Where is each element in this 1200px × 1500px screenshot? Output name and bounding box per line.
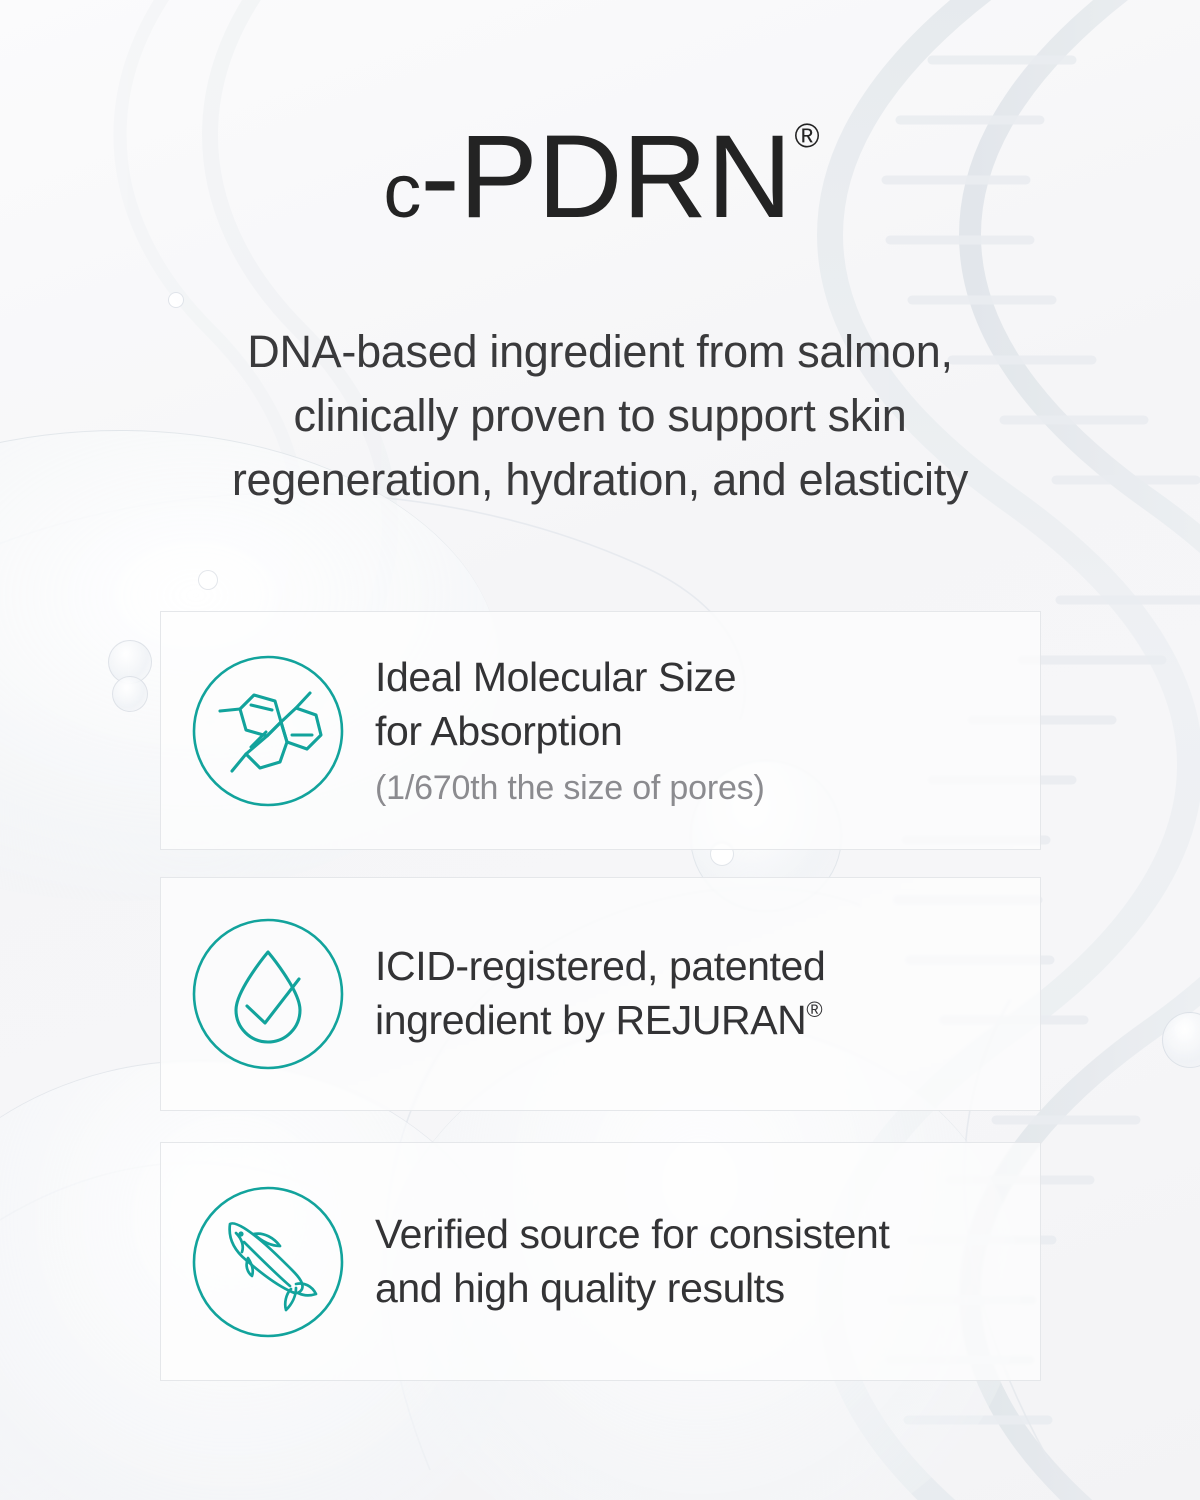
card-text-wrapper: ICID-registered, patented ingredient by …: [375, 940, 1040, 1047]
card-text-wrapper: Verified source for consistent and high …: [375, 1208, 1040, 1315]
fish-icon: [192, 1186, 344, 1338]
registered-trademark-icon: ®: [795, 117, 820, 155]
feature-card-verified-source: Verified source for consistent and high …: [160, 1142, 1041, 1381]
water-drop-check-icon: [192, 918, 344, 1070]
brand-lead-letter: c: [383, 149, 420, 234]
card-heading-text: ICID-registered, patented ingredient by …: [375, 943, 825, 1043]
bubble: [168, 292, 184, 308]
feature-card-icid-registered: ICID-registered, patented ingredient by …: [160, 877, 1041, 1111]
card-text-wrapper: Ideal Molecular Size for Absorption (1/6…: [375, 651, 1040, 810]
product-infographic-page: c-PDRN® DNA-based ingredient from salmon…: [0, 0, 1200, 1500]
registered-trademark-icon: ®: [806, 997, 822, 1022]
bubble: [1162, 1012, 1200, 1068]
bubble: [108, 640, 152, 684]
subtitle: DNA-based ingredient from salmon, clinic…: [0, 320, 1200, 512]
feature-card-list: Ideal Molecular Size for Absorption (1/6…: [160, 611, 1041, 1381]
card-icon-wrapper: [161, 1186, 375, 1338]
card-subtext: (1/670th the size of pores): [375, 768, 1014, 809]
bubble: [198, 570, 218, 590]
feature-card-molecular-size: Ideal Molecular Size for Absorption (1/6…: [160, 611, 1041, 850]
card-heading: Ideal Molecular Size for Absorption: [375, 651, 1014, 758]
card-icon-wrapper: [161, 918, 375, 1070]
header: c-PDRN®: [0, 118, 1200, 236]
brand-main-text: -PDRN: [420, 111, 791, 243]
card-heading: ICID-registered, patented ingredient by …: [375, 940, 1014, 1047]
brand-title: c-PDRN®: [383, 118, 816, 236]
bubble: [112, 676, 148, 712]
card-heading: Verified source for consistent and high …: [375, 1208, 1014, 1315]
card-icon-wrapper: [161, 655, 375, 807]
molecule-icon: [192, 655, 344, 807]
